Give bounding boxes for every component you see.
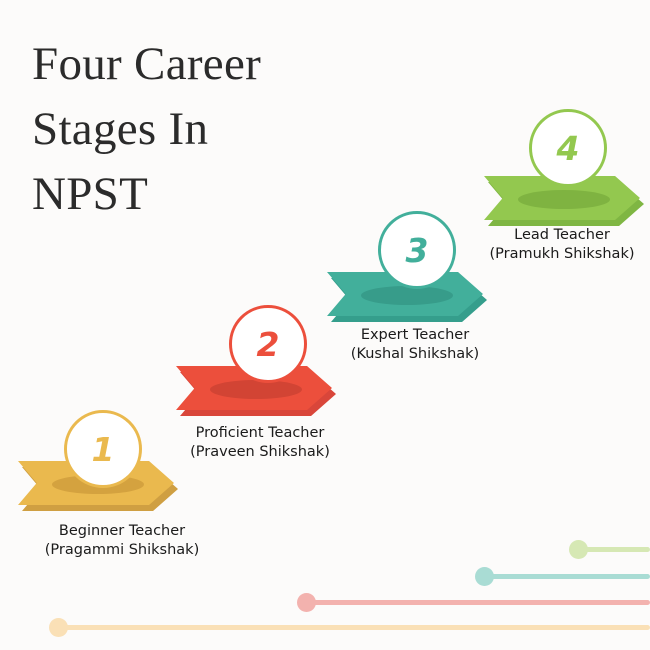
stage-3-arrow-ellipse xyxy=(361,286,453,305)
infographic-canvas: Four Career Stages In NPST 1 Beginner Te… xyxy=(0,0,650,650)
stage-1[interactable]: 1 Beginner Teacher (Pragammi Shikshak) xyxy=(18,457,178,513)
stage-2-arrow-ellipse xyxy=(210,380,302,399)
stage-1-label: Beginner Teacher (Pragammi Shikshak) xyxy=(7,522,237,561)
stage-4-label: Lead Teacher (Pramukh Shikshak) xyxy=(447,226,650,265)
pink-line xyxy=(308,600,650,605)
yellow-line-dot xyxy=(49,618,68,637)
stage-3-number: 3 xyxy=(406,234,429,267)
stage-4[interactable]: 4 Lead Teacher (Pramukh Shikshak) xyxy=(484,172,644,228)
stage-3-label: Expert Teacher (Kushal Shikshak) xyxy=(300,326,530,365)
green-line-dot xyxy=(569,540,588,559)
pink-line-dot xyxy=(297,593,316,612)
yellow-line xyxy=(60,625,650,630)
teal-line-dot xyxy=(475,567,494,586)
green-line xyxy=(580,547,650,552)
stage-2-label: Proficient Teacher (Praveen Shikshak) xyxy=(145,424,375,463)
stage-2-badge[interactable]: 2 xyxy=(229,305,307,383)
stage-2[interactable]: 2 Proficient Teacher (Praveen Shikshak) xyxy=(176,362,336,418)
stage-2-number: 2 xyxy=(257,328,280,361)
stage-4-arrow-ellipse xyxy=(518,190,610,209)
stage-3[interactable]: 3 Expert Teacher (Kushal Shikshak) xyxy=(327,268,487,324)
stage-3-badge[interactable]: 3 xyxy=(378,211,456,289)
stage-4-badge[interactable]: 4 xyxy=(529,109,607,187)
stage-4-number: 4 xyxy=(557,132,580,165)
page-title: Four Career Stages In NPST xyxy=(32,32,392,227)
stage-1-badge[interactable]: 1 xyxy=(64,410,142,488)
teal-line xyxy=(486,574,650,579)
stage-1-number: 1 xyxy=(92,433,115,466)
